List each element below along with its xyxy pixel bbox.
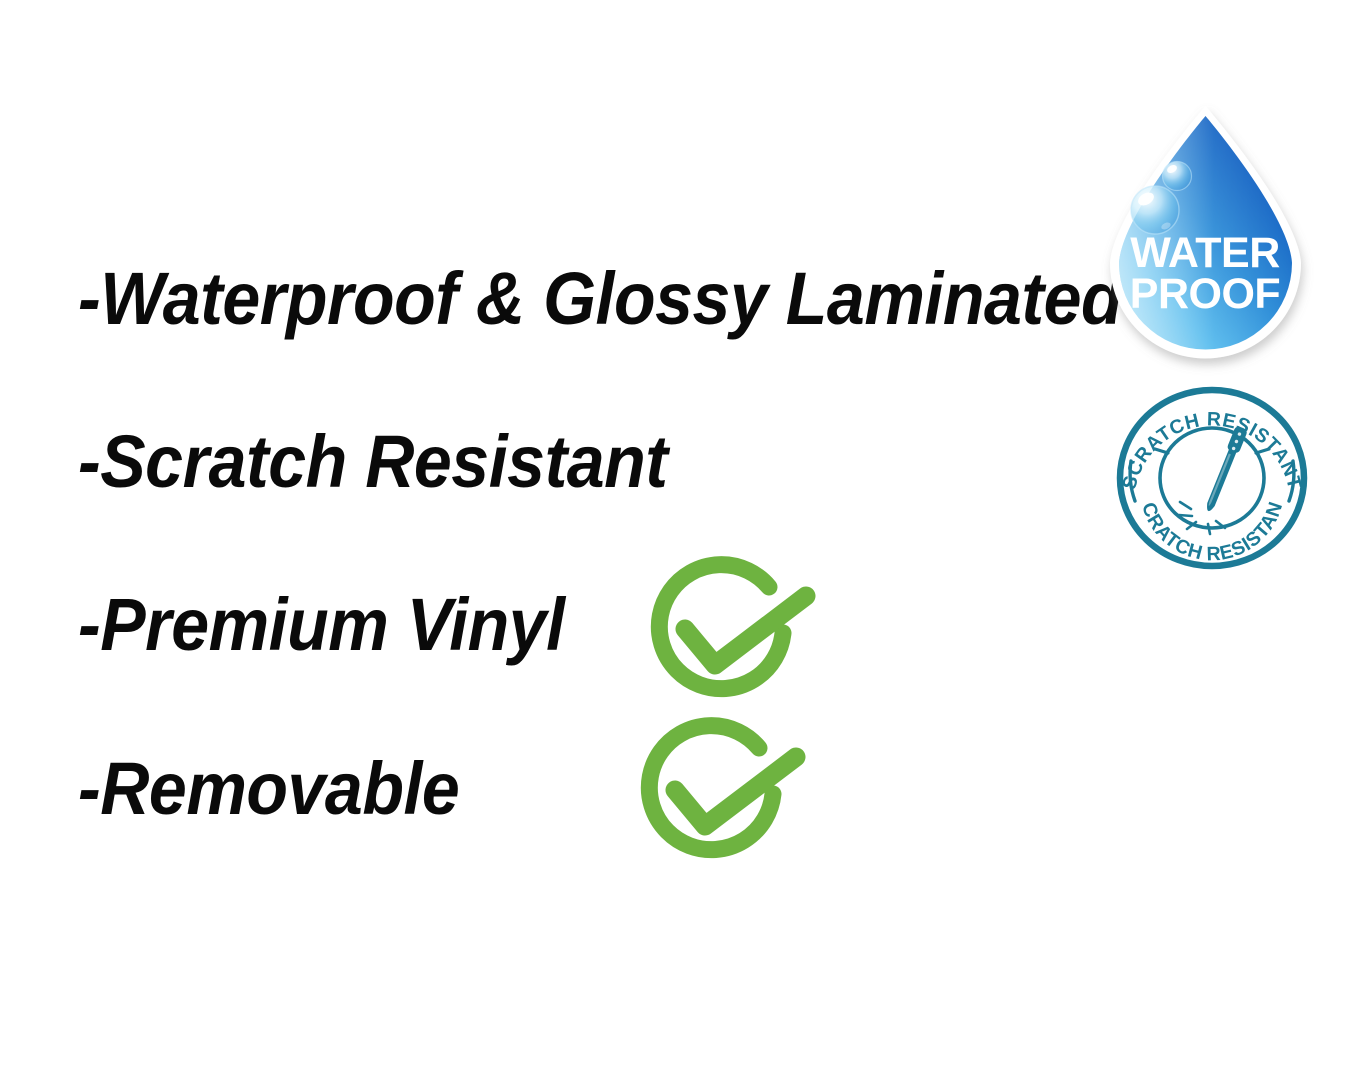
waterproof-line2: PROOF [1130,270,1280,318]
bubble-small-icon [1163,162,1192,191]
feature-item-removable: -Removable [78,752,459,826]
feature-item-premium-vinyl: -Premium Vinyl [78,588,565,662]
green-check-circle-icon [643,557,833,717]
water-droplet-icon: WATER PROOF [1098,100,1313,375]
green-check-circle-icon [633,718,823,878]
feature-item-waterproof: -Waterproof & Glossy Laminated [78,262,1122,336]
scratch-resistant-stamp-icon: SCRATCH RESISTANT SCRATCH RESISTANT [1113,383,1311,573]
bubble-large-icon [1131,186,1179,234]
feature-list-graphic: -Waterproof & Glossy Laminated -Scratch … [0,0,1359,1080]
scratch-badge-top-text: SCRATCH RESISTANT [1118,408,1305,491]
feature-item-scratch-resistant: -Scratch Resistant [78,425,668,499]
knife-icon [1202,425,1248,513]
